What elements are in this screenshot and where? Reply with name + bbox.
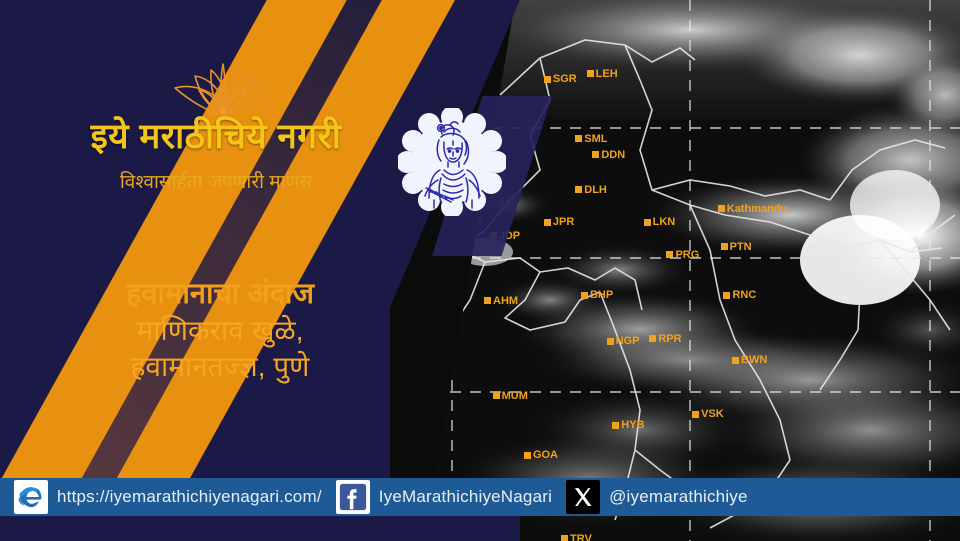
map-marker-icon [581, 292, 588, 299]
map-city-code: LKN [653, 216, 676, 228]
website-link[interactable]: https://iyemarathichiyenagari.com/ [0, 478, 322, 516]
map-city-code: DDN [601, 149, 625, 161]
facebook-link[interactable]: IyeMarathichiyeNagari [322, 478, 552, 516]
map-city-label: MUM [493, 390, 528, 402]
map-city-code: TRV [570, 533, 592, 541]
map-city-label: JPR [544, 216, 574, 228]
map-marker-icon [544, 219, 551, 226]
map-marker-icon [524, 452, 531, 459]
map-city-code: SML [584, 133, 607, 145]
map-city-label: PRG [666, 249, 699, 261]
map-marker-icon [575, 186, 582, 193]
footer-bar: https://iyemarathichiyenagari.com/ IyeMa… [0, 478, 960, 516]
map-city-code: JPR [553, 216, 574, 228]
map-marker-icon [544, 76, 551, 83]
map-city-label: RNC [723, 289, 756, 301]
map-marker-icon [723, 292, 730, 299]
map-city-code: VSK [701, 408, 724, 420]
map-city-label: PTN [721, 241, 752, 253]
footer-underfill [0, 516, 520, 541]
map-city-code: LEH [596, 68, 618, 80]
map-city-code: SGR [553, 73, 577, 85]
map-city-code: HYB [621, 419, 644, 431]
map-city-label: NGP [607, 335, 640, 347]
map-city-code: AHM [493, 295, 518, 307]
map-city-label: VSK [692, 408, 724, 420]
map-city-code: RPR [658, 333, 681, 345]
map-city-label: BHP [581, 289, 613, 301]
x-handle: @iyemarathichiye [609, 487, 748, 507]
headline-block: हवामानाचा अंदाज माणिकराव खुळे, हवामानतज्… [10, 277, 430, 386]
map-marker-icon [732, 357, 739, 364]
map-city-code: BWN [741, 354, 767, 366]
map-city-label: Kathmandu [718, 203, 788, 215]
map-city-label: AHM [484, 295, 518, 307]
map-marker-icon [575, 135, 582, 142]
map-city-code: Kathmandu [727, 203, 788, 215]
map-city-code: PTN [730, 241, 752, 253]
map-city-label: LEH [587, 68, 618, 80]
map-city-label: DLH [575, 184, 607, 196]
map-marker-icon [612, 422, 619, 429]
map-city-code: PRG [675, 249, 699, 261]
brand-tagline: विश्वासार्हता जपणारी माणसं [16, 168, 416, 194]
x-twitter-link[interactable]: @iyemarathichiye [552, 478, 748, 516]
map-city-code: DLH [584, 184, 607, 196]
map-marker-icon [666, 251, 673, 258]
map-city-code: MUM [502, 390, 528, 402]
map-marker-icon [484, 297, 491, 304]
map-city-label: HYB [612, 419, 644, 431]
internet-explorer-icon [14, 480, 48, 514]
map-city-label: DDN [592, 149, 625, 161]
map-city-label: BWN [732, 354, 767, 366]
website-url: https://iyemarathichiyenagari.com/ [57, 487, 322, 507]
map-marker-icon [592, 151, 599, 158]
x-twitter-icon [566, 480, 600, 514]
map-city-label: GOA [524, 449, 558, 461]
facebook-icon [336, 480, 370, 514]
map-city-label: SML [575, 133, 607, 145]
map-city-code: BHP [590, 289, 613, 301]
map-marker-icon [561, 535, 568, 541]
krishna-badge [398, 108, 506, 216]
headline-line-1: हवामानाचा अंदाज [10, 277, 430, 313]
headline-line-2: माणिकराव खुळे, [10, 313, 430, 349]
map-marker-icon [649, 335, 656, 342]
map-city-label: TRV [561, 533, 592, 541]
map-marker-icon [721, 243, 728, 250]
map-city-code: RNC [732, 289, 756, 301]
map-marker-icon [718, 205, 725, 212]
facebook-handle: IyeMarathichiyeNagari [379, 487, 552, 507]
map-marker-icon [644, 219, 651, 226]
map-city-label: RPR [649, 333, 681, 345]
map-city-code: GOA [533, 449, 558, 461]
brand-name: इये मराठीचिये नगरी [16, 112, 416, 159]
map-marker-icon [607, 338, 614, 345]
headline-line-3: हवामानतज्ज्ञ, पुणे [10, 349, 430, 385]
weather-forecast-graphic: KabulSGRLEHMultanSMLDDNDLHJSMJDPJPRLKNPR… [0, 0, 960, 541]
map-city-label: SGR [544, 73, 577, 85]
map-marker-icon [692, 411, 699, 418]
map-marker-icon [493, 392, 500, 399]
map-marker-icon [587, 70, 594, 77]
map-city-code: NGP [616, 335, 640, 347]
map-city-label: LKN [644, 216, 676, 228]
lotus-icon [165, 48, 281, 120]
